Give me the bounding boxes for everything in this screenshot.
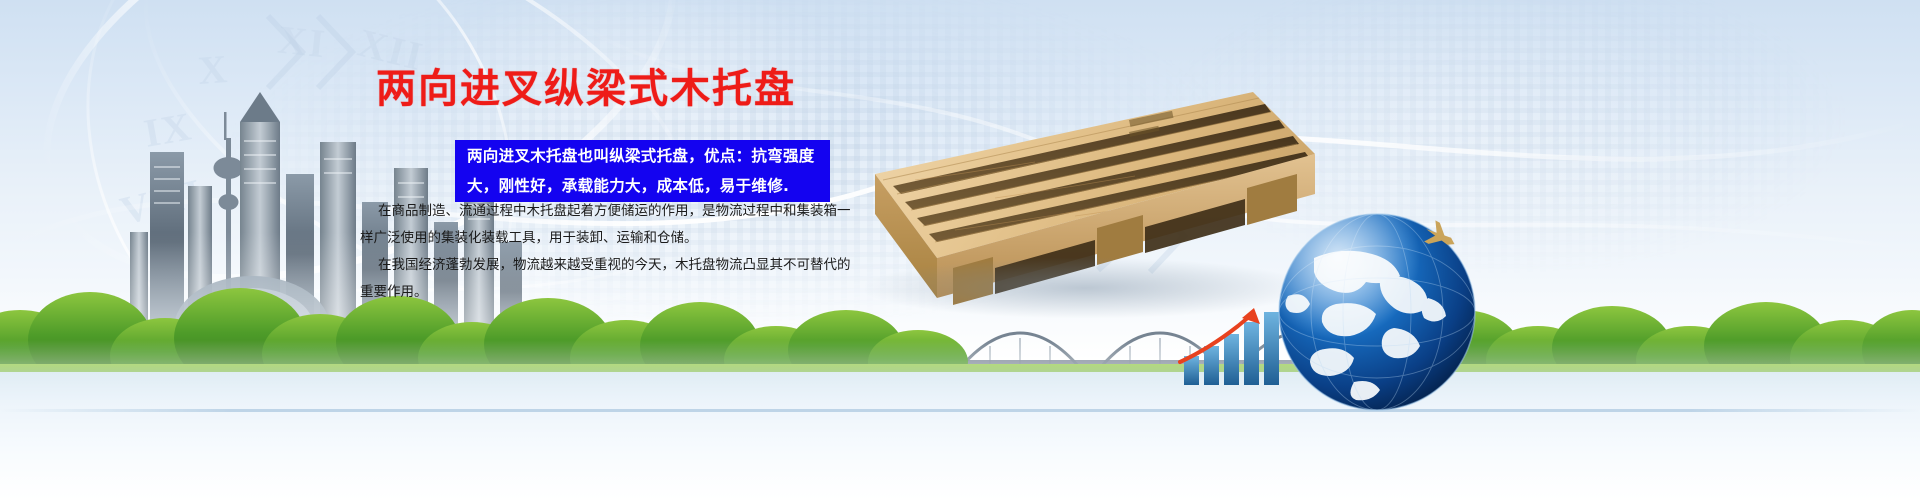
horizon-line xyxy=(0,409,1920,412)
page-title: 两向进叉纵梁式木托盘 xyxy=(376,56,796,114)
body-paragraph-2: 在我国经济蓬勃发展，物流越来越受重视的今天，木托盘物流凸显其不可替代的重要作用。 xyxy=(360,252,860,306)
product-banner: VIII IX X XI XII xyxy=(0,0,1920,500)
water-reflection xyxy=(0,372,1920,500)
callout-line-2: 大，刚性好，承载能力大，成本低，易于维修. xyxy=(467,171,818,201)
callout-line-1: 两向进叉木托盘也叫纵梁式托盘，优点：抗弯强度 xyxy=(467,141,818,171)
highlight-callout-box: 两向进叉木托盘也叫纵梁式托盘，优点：抗弯强度 大，刚性好，承载能力大，成本低，易… xyxy=(455,140,830,202)
body-copy: 在商品制造、流通过程中木托盘起着方便储运的作用，是物流过程中和集装箱一样广泛使用… xyxy=(360,198,860,306)
body-paragraph-1: 在商品制造、流通过程中木托盘起着方便储运的作用，是物流过程中和集装箱一样广泛使用… xyxy=(360,198,860,252)
globe xyxy=(1262,200,1492,430)
roman-numeral: XI xyxy=(276,16,329,68)
